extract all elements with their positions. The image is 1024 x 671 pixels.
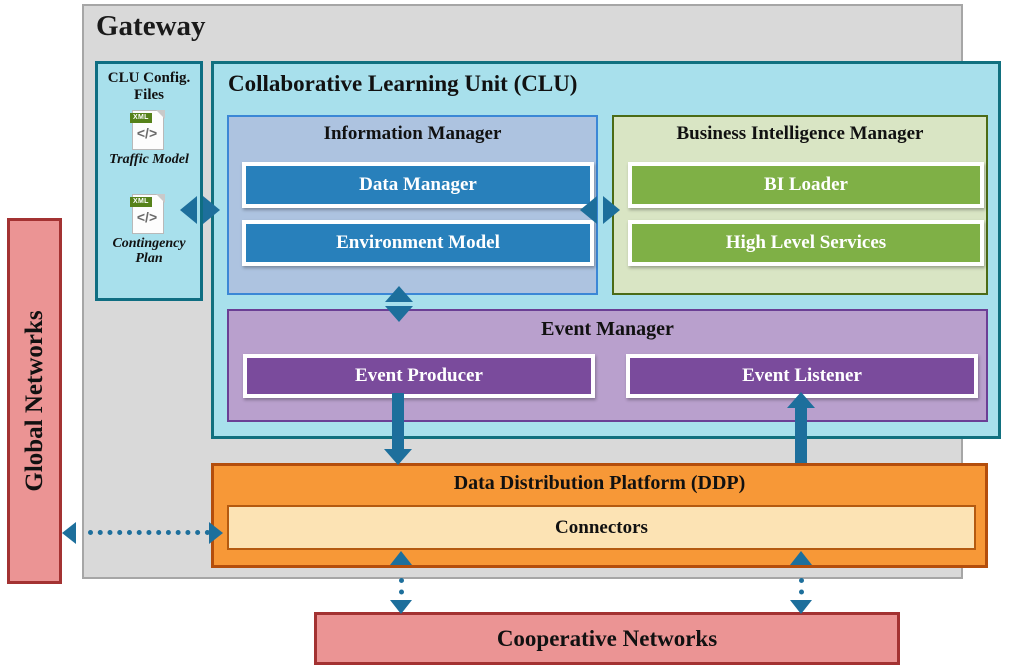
arrow-ddp-to-listener-shaft [795,406,807,463]
high-level-services-box[interactable]: High Level Services [628,220,984,266]
arrow-coop-networks-right-head [790,600,812,614]
business-intelligence-manager-title: Business Intelligence Manager [614,123,986,145]
event-manager-title: Event Manager [229,318,986,341]
ddp-title: Data Distribution Platform (DDP) [214,472,985,495]
arrow-ddp-bottom-left-head [390,551,412,565]
code-brackets-glyph: </> [132,209,162,225]
global-networks-box: Global Networks [7,218,62,584]
clu-title: Collaborative Learning Unit (CLU) [228,71,577,97]
gateway-title: Gateway [96,10,206,43]
environment-model-box[interactable]: Environment Model [242,220,594,266]
arrow-global-networks-head [62,522,76,544]
event-producer-box[interactable]: Event Producer [243,354,595,398]
arrow-ddp-bottom-right-head [790,551,812,565]
clu-config-files-title: CLU Config. Files [98,70,200,104]
xml-file-icon: XML </> [132,110,166,148]
code-brackets-glyph: </> [132,125,162,141]
information-manager-panel: Information Manager Data Manager Environ… [227,115,598,295]
arrow-connectors-left-head [209,522,223,544]
arrow-info-to-bi-right-head [603,196,620,224]
data-distribution-platform-panel: Data Distribution Platform (DDP) Connect… [211,463,988,568]
contingency-plan-label: Contingency Plan [100,236,198,267]
dotted-line-global-to-connectors [88,530,210,535]
arrow-info-to-event-up-head [385,286,413,302]
data-manager-box[interactable]: Data Manager [242,162,594,208]
xml-file-icon: XML </> [132,194,166,232]
event-manager-panel: Event Manager Event Producer Event Liste… [227,309,988,422]
file-fold-corner [156,110,165,119]
xml-badge-label: XML [130,113,152,123]
arrow-producer-to-ddp-shaft [392,393,404,455]
arrow-producer-to-ddp-head [384,449,412,465]
xml-badge-label: XML [130,197,152,207]
business-intelligence-manager-panel: Business Intelligence Manager BI Loader … [612,115,988,295]
information-manager-title: Information Manager [229,123,596,145]
clu-config-files-panel: CLU Config. Files XML </> Traffic Model … [95,61,203,301]
arrow-info-to-bi-left-head [580,196,597,224]
global-networks-label: Global Networks [21,310,49,491]
arrow-info-to-event-down-head [385,306,413,322]
cooperative-networks-box: Cooperative Networks [314,612,900,665]
file-fold-corner [156,194,165,203]
bi-loader-box[interactable]: BI Loader [628,162,984,208]
arrow-ddp-to-listener-head [787,392,815,408]
connectors-box[interactable]: Connectors [227,505,976,550]
arrow-coop-networks-left-head [390,600,412,614]
arrow-config-to-info-left-head [180,196,197,224]
arrow-config-to-info-right-head [203,196,220,224]
traffic-model-label: Traffic Model [100,152,198,167]
